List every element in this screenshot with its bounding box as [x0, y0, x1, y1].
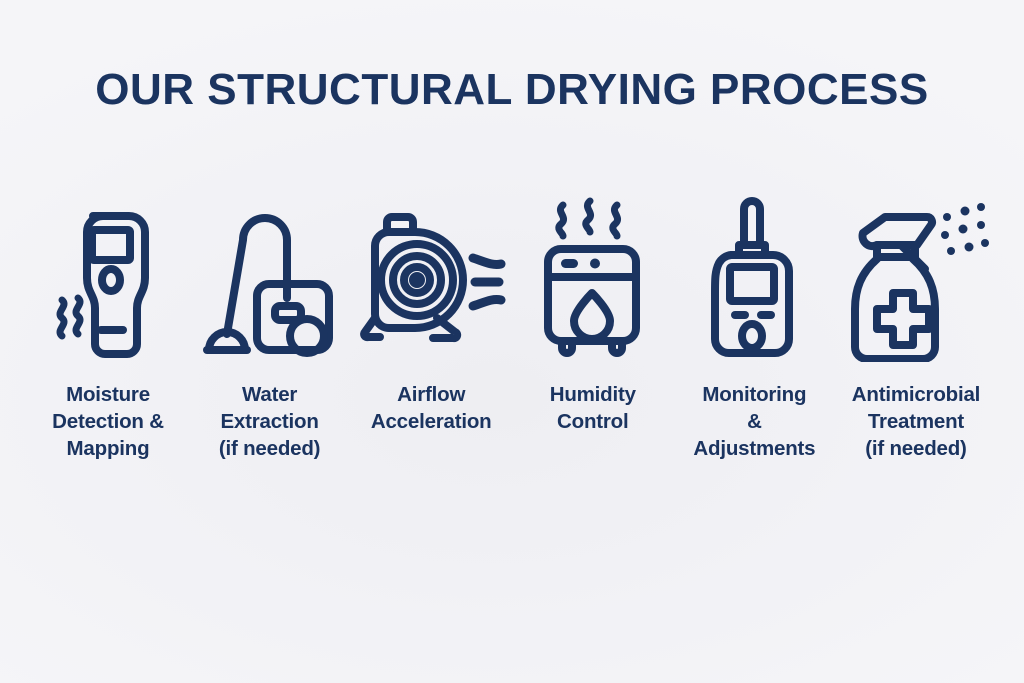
handheld-hygrometer-icon — [674, 192, 834, 367]
process-step: Water Extraction (if needed) — [190, 192, 350, 462]
process-step: Humidity Control — [513, 192, 673, 435]
step-label: Antimicrobial Treatment (if needed) — [852, 381, 980, 462]
air-mover-fan-icon — [351, 192, 511, 367]
page-title: OUR STRUCTURAL DRYING PROCESS — [0, 68, 1024, 112]
step-label: Moisture Detection & Mapping — [52, 381, 164, 462]
step-label: Water Extraction (if needed) — [219, 381, 320, 462]
step-label: Airflow Acceleration — [371, 381, 492, 435]
moisture-meter-icon — [28, 192, 188, 367]
process-step: Monitoring & Adjustments — [674, 192, 834, 462]
step-label: Humidity Control — [550, 381, 636, 435]
process-step: Antimicrobial Treatment (if needed) — [836, 192, 996, 462]
process-step: Moisture Detection & Mapping — [28, 192, 188, 462]
process-steps-row: Moisture Detection & Mapping — [28, 192, 996, 462]
process-step: Airflow Acceleration — [351, 192, 511, 435]
vacuum-cleaner-icon — [190, 192, 350, 367]
dehumidifier-icon — [513, 192, 673, 367]
spray-bottle-icon — [836, 192, 996, 367]
step-label: Monitoring & Adjustments — [693, 381, 815, 462]
infographic-canvas: OUR STRUCTURAL DRYING PROCESS — [0, 0, 1024, 683]
